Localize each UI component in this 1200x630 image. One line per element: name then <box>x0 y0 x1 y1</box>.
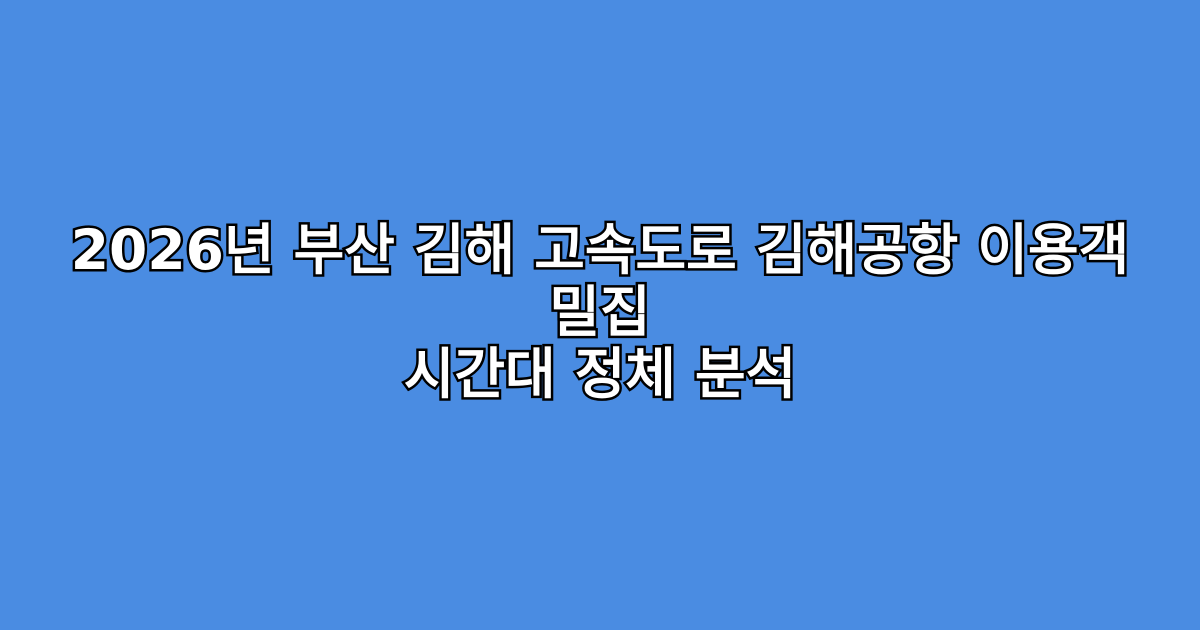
headline-line-1: 2026년 부산 김해 고속도로 김해공항 이용객 밀집 <box>56 219 1144 343</box>
headline-block: 2026년 부산 김해 고속도로 김해공항 이용객 밀집 시간대 정체 분석 <box>40 219 1160 405</box>
thumbnail-card: 2026년 부산 김해 고속도로 김해공항 이용객 밀집 시간대 정체 분석 <box>0 0 1200 630</box>
headline-line-2: 시간대 정체 분석 <box>56 343 1144 405</box>
page-title: 2026년 부산 김해 고속도로 김해공항 이용객 밀집 시간대 정체 분석 <box>56 219 1144 405</box>
